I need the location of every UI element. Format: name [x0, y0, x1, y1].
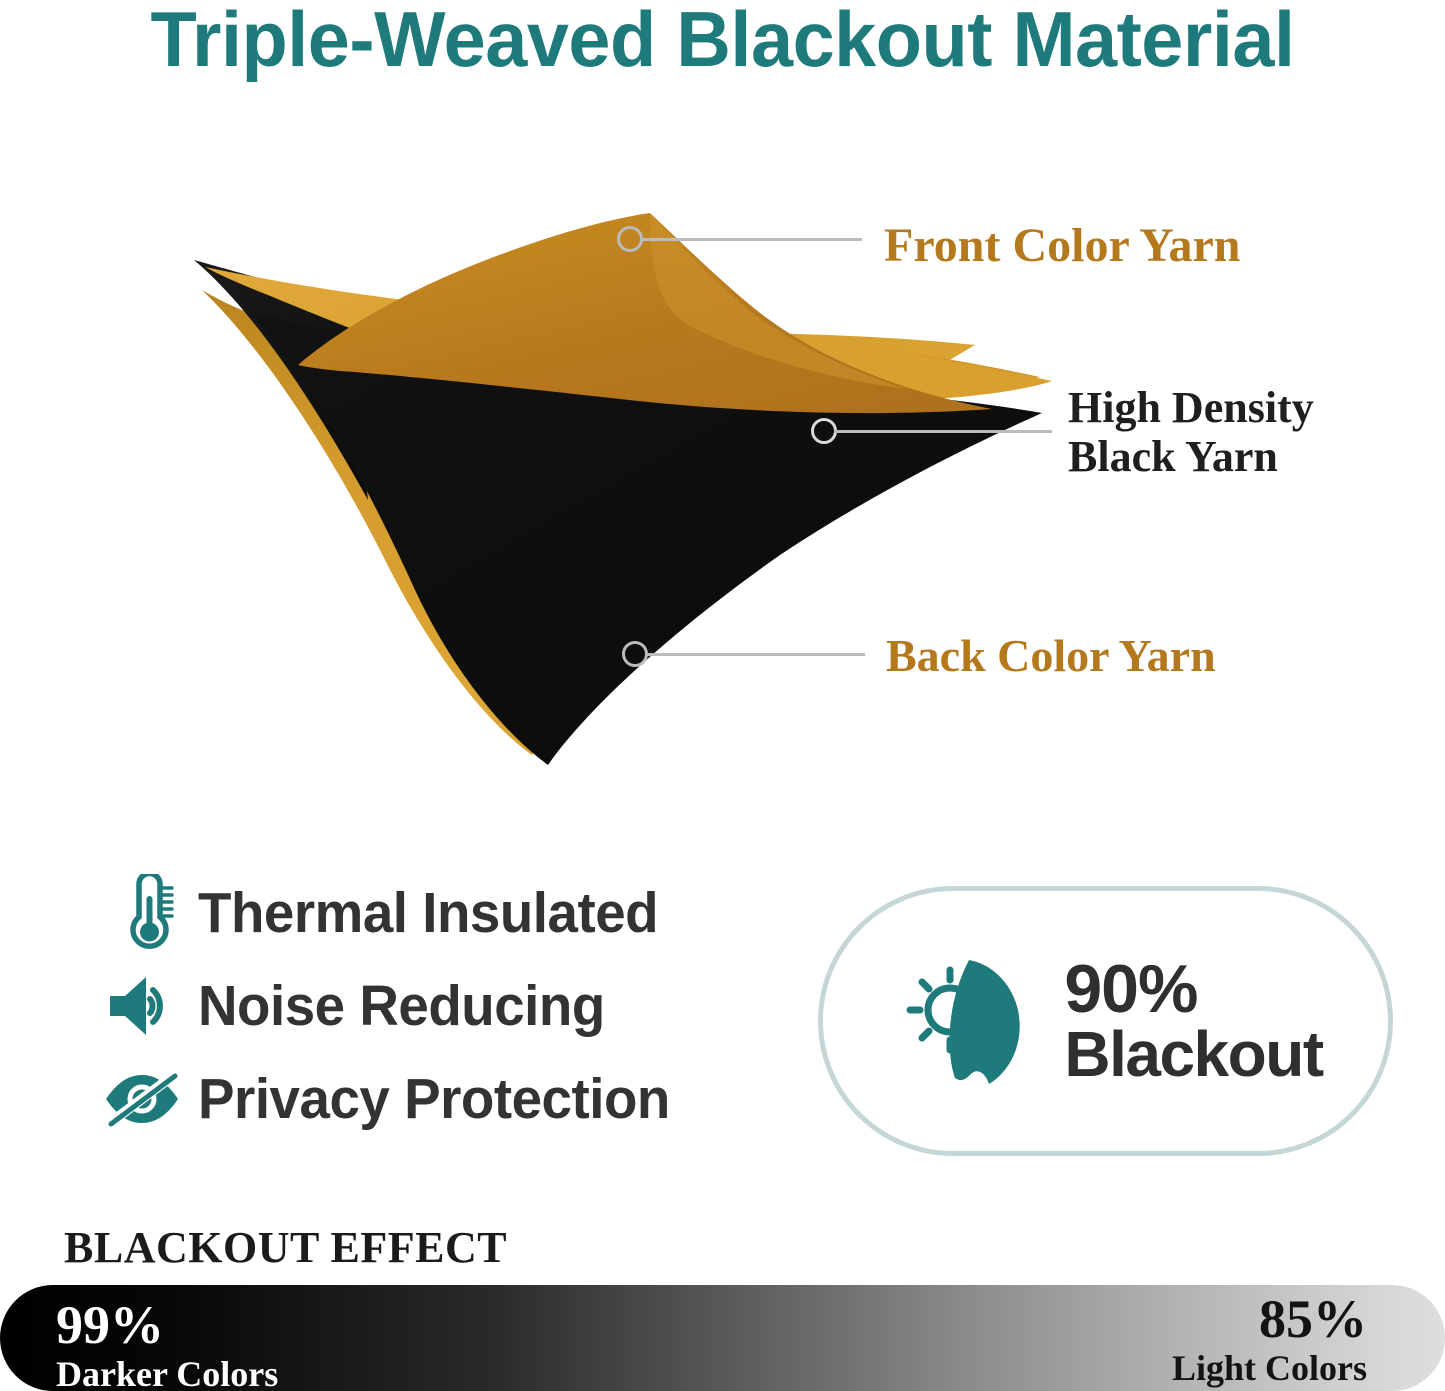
effect-light-percent: 85%	[1172, 1292, 1367, 1346]
feature-privacy-protection: Privacy Protection	[100, 1052, 800, 1145]
callout-black-line2: Black Yarn	[1068, 432, 1398, 481]
callout-front-color-yarn: Front Color Yarn	[884, 218, 1240, 273]
feature-label-privacy-protection: Privacy Protection	[198, 1066, 670, 1132]
callout-line-front	[640, 238, 862, 241]
eye-slash-icon	[100, 1057, 184, 1141]
feature-label-noise-reducing: Noise Reducing	[198, 973, 605, 1039]
effect-darker-percent: 99%	[56, 1298, 278, 1352]
callout-line-back	[645, 653, 865, 656]
callout-back-color-yarn: Back Color Yarn	[886, 629, 1216, 682]
effect-light-colors: 85% Light Colors	[1172, 1292, 1367, 1386]
feature-thermal-insulated: Thermal Insulated	[100, 866, 800, 959]
badge-word: Blackout	[1064, 1023, 1322, 1086]
blackout-effect-heading: BLACKOUT EFFECT	[64, 1222, 507, 1273]
feature-noise-reducing: Noise Reducing	[100, 959, 800, 1052]
feature-label-thermal-insulated: Thermal Insulated	[198, 880, 658, 946]
page-title: Triple-Weaved Blackout Material	[22, 0, 1424, 85]
blackout-badge: 90% Blackout	[818, 886, 1393, 1156]
callout-line-black	[834, 430, 1052, 433]
feature-list: Thermal Insulated Noise Reducing	[100, 866, 800, 1145]
callout-high-density-black-yarn: High Density Black Yarn	[1068, 383, 1398, 482]
badge-percent: 90%	[1064, 956, 1322, 1023]
effect-light-label: Light Colors	[1172, 1350, 1367, 1386]
effect-darker-colors: 99% Darker Colors	[56, 1298, 278, 1391]
badge-text: 90% Blackout	[1064, 956, 1322, 1085]
thermometer-icon	[100, 871, 184, 955]
callout-black-line1: High Density	[1068, 383, 1398, 432]
effect-darker-label: Darker Colors	[56, 1356, 278, 1391]
sun-blocked-icon	[888, 941, 1048, 1101]
speaker-icon	[100, 964, 184, 1048]
infographic-page: Triple-Weaved Blackout Material	[0, 0, 1445, 1391]
